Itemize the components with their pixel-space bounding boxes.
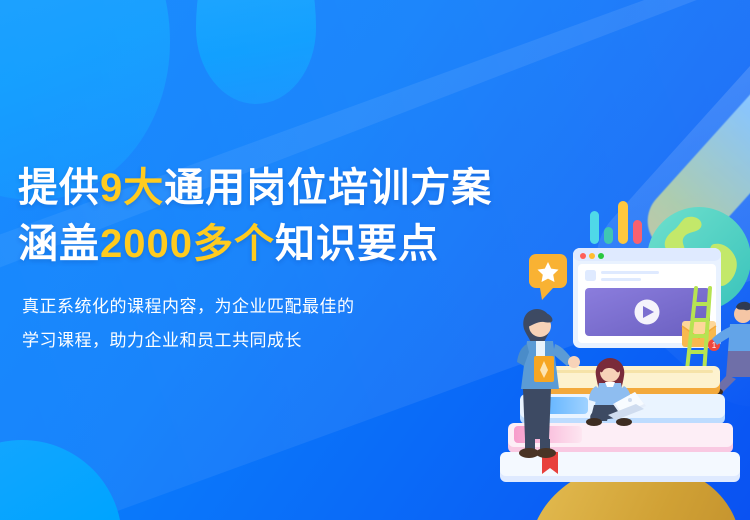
window-close-dot	[580, 253, 586, 259]
bar-chart-icon	[590, 201, 642, 244]
subtitle-line-1: 真正系统化的课程内容，为企业匹配最佳的	[22, 290, 578, 324]
headline-block: 提供9大通用岗位培训方案 涵盖2000多个知识要点 真正系统化的课程内容，为企业…	[18, 160, 578, 358]
subtitle-block: 真正系统化的课程内容，为企业匹配最佳的 学习课程，助力企业和员工共同成长	[22, 290, 578, 358]
headline-line-1-part-3: 通用岗位培训方案	[164, 166, 492, 210]
window-minimize-dot	[589, 253, 595, 259]
book-cream	[538, 366, 720, 395]
headline-line-1-part-1: 提供	[18, 166, 100, 210]
headline-line-2-accent: 2000多个	[100, 222, 275, 266]
headline-line-2-part-1: 涵盖	[18, 222, 100, 266]
promo-banner: 提供9大通用岗位培训方案 涵盖2000多个知识要点 真正系统化的课程内容，为企业…	[0, 0, 750, 520]
headline-line-2-part-3: 知识要点	[275, 222, 439, 266]
headline-line-1: 提供9大通用岗位培训方案	[18, 160, 578, 216]
window-maximize-dot	[598, 253, 604, 259]
subtitle-line-2: 学习课程，助力企业和员工共同成长	[22, 324, 578, 358]
orange-book-held	[534, 356, 554, 382]
headline-line-1-accent: 9大	[100, 166, 164, 210]
headline-line-2: 涵盖2000多个知识要点	[18, 216, 578, 272]
